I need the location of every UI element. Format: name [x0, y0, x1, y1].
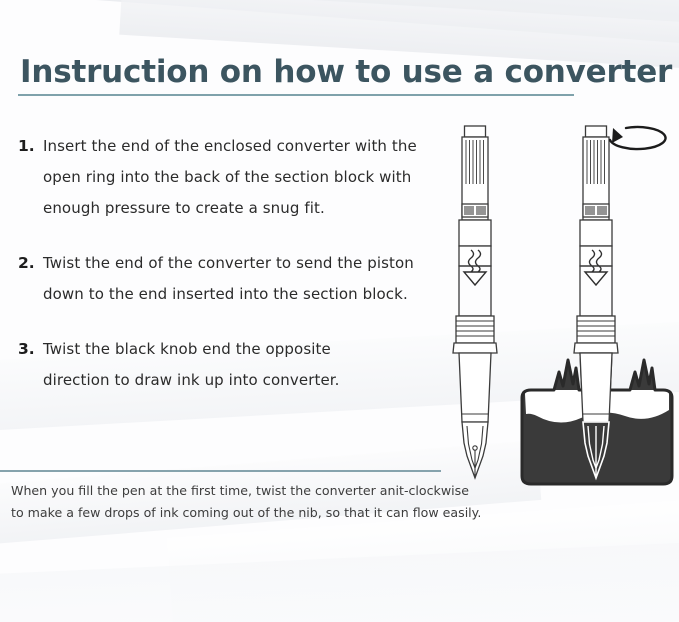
step-line: open ring into the back of the section b…	[43, 162, 448, 193]
footnote-divider	[0, 470, 441, 472]
background-streak	[0, 536, 679, 622]
left-pen-diagram	[453, 126, 497, 478]
title-underline	[18, 94, 574, 96]
footnote-line: When you fill the pen at the first time,…	[11, 480, 481, 502]
instruction-step: 2. Twist the end of the converter to sen…	[18, 248, 448, 310]
step-number: 3.	[18, 334, 35, 365]
step-line: Twist the black knob end the opposite	[43, 334, 448, 365]
step-line: down to the end inserted into the sectio…	[43, 279, 448, 310]
footnote: When you fill the pen at the first time,…	[11, 480, 481, 524]
instruction-step-list: 1. Insert the end of the enclosed conver…	[18, 131, 448, 420]
step-line: direction to draw ink up into converter.	[43, 365, 448, 396]
ink-bottle	[522, 353, 672, 484]
step-text: Twist the end of the converter to send t…	[43, 248, 448, 310]
instruction-step: 3. Twist the black knob end the opposite…	[18, 334, 448, 396]
step-number: 2.	[18, 248, 35, 279]
step-text: Insert the end of the enclosed converter…	[43, 131, 448, 224]
rotate-knob-arrow-icon	[610, 127, 666, 149]
footnote-line: to make a few drops of ink coming out of…	[11, 502, 481, 524]
pen-illustration	[430, 110, 679, 495]
step-number: 1.	[18, 131, 35, 162]
step-line: Twist the end of the converter to send t…	[43, 248, 448, 279]
step-line: Insert the end of the enclosed converter…	[43, 131, 448, 162]
background-streak	[0, 0, 679, 53]
instruction-page: Instruction on how to use a converter 1.…	[0, 0, 679, 622]
step-line: enough pressure to create a snug fit.	[43, 193, 448, 224]
step-text: Twist the black knob end the opposite di…	[43, 334, 448, 396]
instruction-step: 1. Insert the end of the enclosed conver…	[18, 131, 448, 224]
page-title: Instruction on how to use a converter	[20, 54, 672, 90]
